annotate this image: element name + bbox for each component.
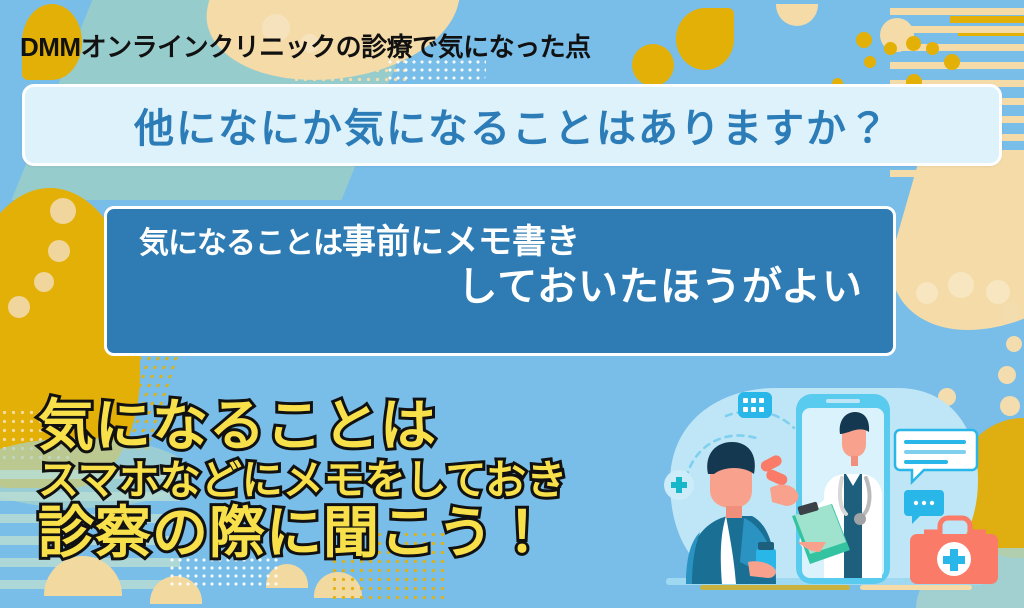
gold-dot-shape — [884, 42, 897, 55]
answer-line-1: 気になることは事前にメモ書き — [133, 223, 867, 261]
online-consultation-illustration — [648, 382, 1024, 608]
cream-circle-shape — [916, 282, 938, 304]
answer-line-1-lead: 気になることは — [139, 227, 342, 260]
callout-line-3: 診察の際に聞こう！ — [38, 505, 567, 561]
gold-circle-shape — [632, 44, 674, 86]
callout-text: 気になることは スマホなどにメモをしておき 診察の際に聞こう！ — [38, 398, 567, 561]
cream-circle-shape — [1006, 336, 1022, 352]
gold-dot-shape — [864, 56, 876, 68]
calendar-icon — [738, 392, 772, 418]
gold-dot-shape — [926, 42, 939, 55]
callout-line-2: スマホなどにメモをしておき — [38, 460, 567, 501]
gold-teardrop-shape — [676, 8, 734, 70]
cream-circle-shape — [50, 198, 76, 224]
poster-canvas: DMMオンラインクリニックの診療で気になった点 他になにか気になることはあります… — [0, 0, 1024, 608]
beige-halfcircle-shape — [776, 4, 818, 26]
cream-circle-shape — [1000, 302, 1020, 322]
question-box: 他になにか気になることはありますか？ — [22, 84, 1002, 166]
callout-line-1: 気になることは — [38, 398, 567, 454]
cream-circle-shape — [986, 280, 1010, 304]
answer-box: 気になることは事前にメモ書き しておいたほうがよい — [104, 206, 896, 356]
cream-circle-shape — [8, 296, 30, 318]
answer-line-1-emphasis: 事前にメモ書き — [342, 223, 580, 261]
medical-cross-icon — [664, 470, 694, 500]
cream-circle-shape — [34, 272, 54, 292]
gold-dot-shape — [944, 54, 960, 70]
cream-circle-shape — [948, 272, 974, 298]
gold-dot-shape — [856, 32, 872, 48]
cream-circle-shape — [48, 240, 70, 262]
page-title: DMMオンラインクリニックの診療で気になった点 — [20, 27, 591, 64]
question-text: 他になにか気になることはありますか？ — [134, 96, 890, 154]
answer-line-2: しておいたほうがよい — [133, 265, 867, 310]
gold-dot-shape — [906, 36, 921, 51]
